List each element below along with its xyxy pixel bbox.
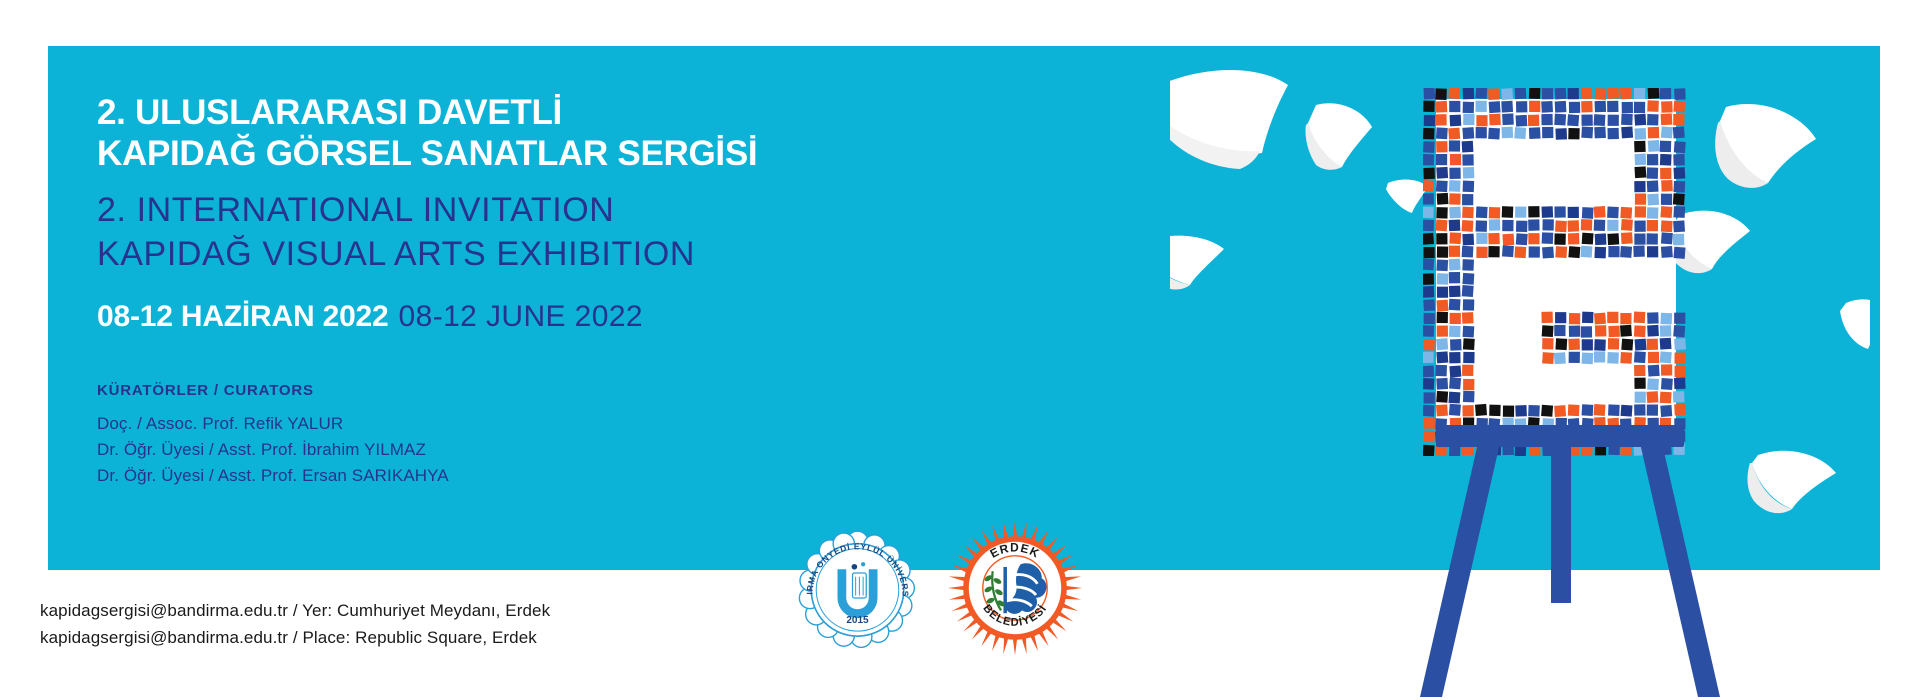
contact-line-english: kapidagsergisi@bandirma.edu.tr / Place: … — [40, 624, 550, 651]
title-english-line-1: 2. INTERNATIONAL INVITATION — [97, 188, 917, 232]
artwork-mosaic-two-on-easel — [1170, 55, 1870, 698]
contact-block: kapidagsergisi@bandirma.edu.tr / Yer: Cu… — [40, 597, 550, 651]
paper-sheet — [1170, 236, 1224, 285]
easel-leg-right — [1640, 443, 1720, 697]
curator-name: Dr. Öğr. Üyesi / Asst. Prof. Ersan SARIK… — [97, 463, 917, 489]
easel — [1420, 425, 1720, 700]
title-english: 2. INTERNATIONAL INVITATION KAPIDAĞ VISU… — [97, 188, 917, 276]
exhibition-dates: 08-12 HAZİRAN 202208-12 JUNE 2022 — [97, 300, 917, 334]
curators-heading: KÜRATÖRLER / CURATORS — [97, 382, 917, 399]
poster-text-block: 2. ULUSLARARASI DAVETLİ KAPIDAĞ GÖRSEL S… — [97, 92, 917, 489]
contact-line-turkish: kapidagsergisi@bandirma.edu.tr / Yer: Cu… — [40, 597, 550, 624]
paper-sheet — [1840, 299, 1870, 349]
date-turkish: 08-12 HAZİRAN 2022 — [97, 300, 389, 333]
easel-leg-center — [1551, 443, 1571, 603]
title-turkish: 2. ULUSLARARASI DAVETLİ KAPIDAĞ GÖRSEL S… — [97, 92, 917, 174]
title-english-line-2: KAPIDAĞ VISUAL ARTS EXHIBITION — [97, 232, 917, 276]
curator-name: Dr. Öğr. Üyesi / Asst. Prof. İbrahim YIL… — [97, 437, 917, 463]
erdek-belediyesi-logo: ERDEK BELEDİYESİ — [945, 518, 1085, 658]
bandirma-onyedi-eylul-universitesi-logo: BANDIRMA ONYEDİ EYLÜL ÜNİVERSİTESİ 2015 — [795, 528, 920, 653]
date-english: 08-12 JUNE 2022 — [399, 300, 643, 333]
title-turkish-line-2: KAPIDAĞ GÖRSEL SANATLAR SERGİSİ — [97, 133, 917, 174]
university-founding-year: 2015 — [846, 615, 869, 626]
curators-block: KÜRATÖRLER / CURATORS Doç. / Assoc. Prof… — [97, 382, 917, 489]
paper-sheet — [1386, 180, 1428, 213]
curator-name: Doç. / Assoc. Prof. Refik YALUR — [97, 411, 917, 437]
title-turkish-line-1: 2. ULUSLARARASI DAVETLİ — [97, 92, 917, 133]
mosaic-numeral-two — [1423, 88, 1689, 456]
logo-row: BANDIRMA ONYEDİ EYLÜL ÜNİVERSİTESİ 2015 — [795, 513, 1125, 643]
easel-leg-left — [1420, 443, 1500, 697]
